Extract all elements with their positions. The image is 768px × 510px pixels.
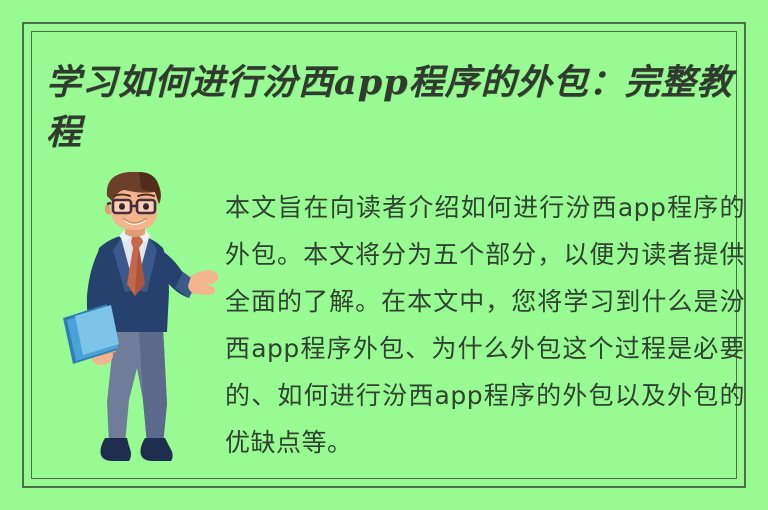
businessman-presenting-illustration xyxy=(55,172,220,477)
article-title: 学习如何进行汾西app程序的外包：完整教程 xyxy=(46,58,746,158)
article-card: 学习如何进行汾西app程序的外包：完整教程 本文旨在向读者介绍如何进行汾西app… xyxy=(0,0,768,510)
article-body-text: 本文旨在向读者介绍如何进行汾西app程序的外包。本文将分为五个部分，以便为读者提… xyxy=(225,184,745,466)
